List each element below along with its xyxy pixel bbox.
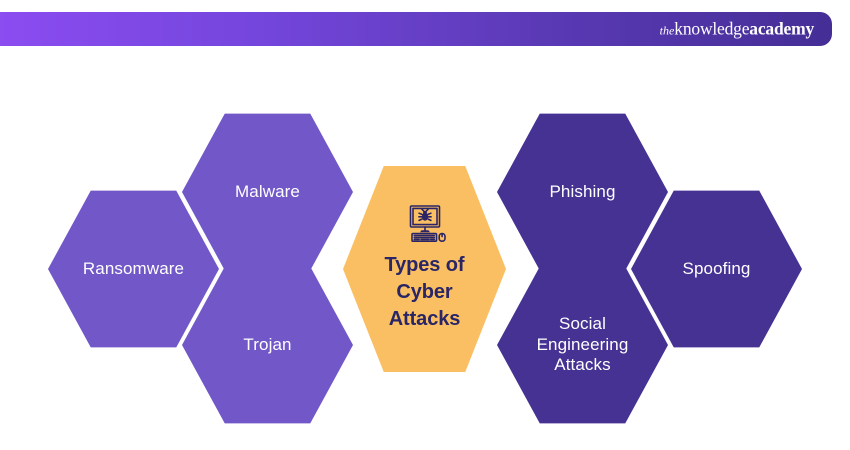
hex-label-phishing: Phishing [541,182,623,203]
brand-logo-the: the [660,23,675,37]
hex-label-ransomware: Ransomware [75,259,192,280]
brand-logo-knowledge: knowledge [674,18,749,38]
brand-logo-academy: academy [749,18,814,38]
center-title: Types of Cyber Attacks [385,252,465,332]
hex-node-phishing[interactable]: Phishing [497,112,668,272]
hex-label-malware: Malware [227,182,308,203]
hex-label-spoofing: Spoofing [675,259,759,280]
computer-virus-icon [403,205,447,243]
brand-logo: theknowledgeacademy [660,20,814,38]
hex-label-trojan: Trojan [235,335,299,356]
hex-node-malware[interactable]: Malware [182,112,353,272]
hexagon-diagram: Ransomware Malware Trojan [0,60,850,450]
header-bar: theknowledgeacademy [0,12,832,46]
hex-node-center[interactable]: Types of Cyber Attacks [343,165,506,373]
hex-label-social-engineering-attacks: Social Engineering Attacks [529,314,637,376]
